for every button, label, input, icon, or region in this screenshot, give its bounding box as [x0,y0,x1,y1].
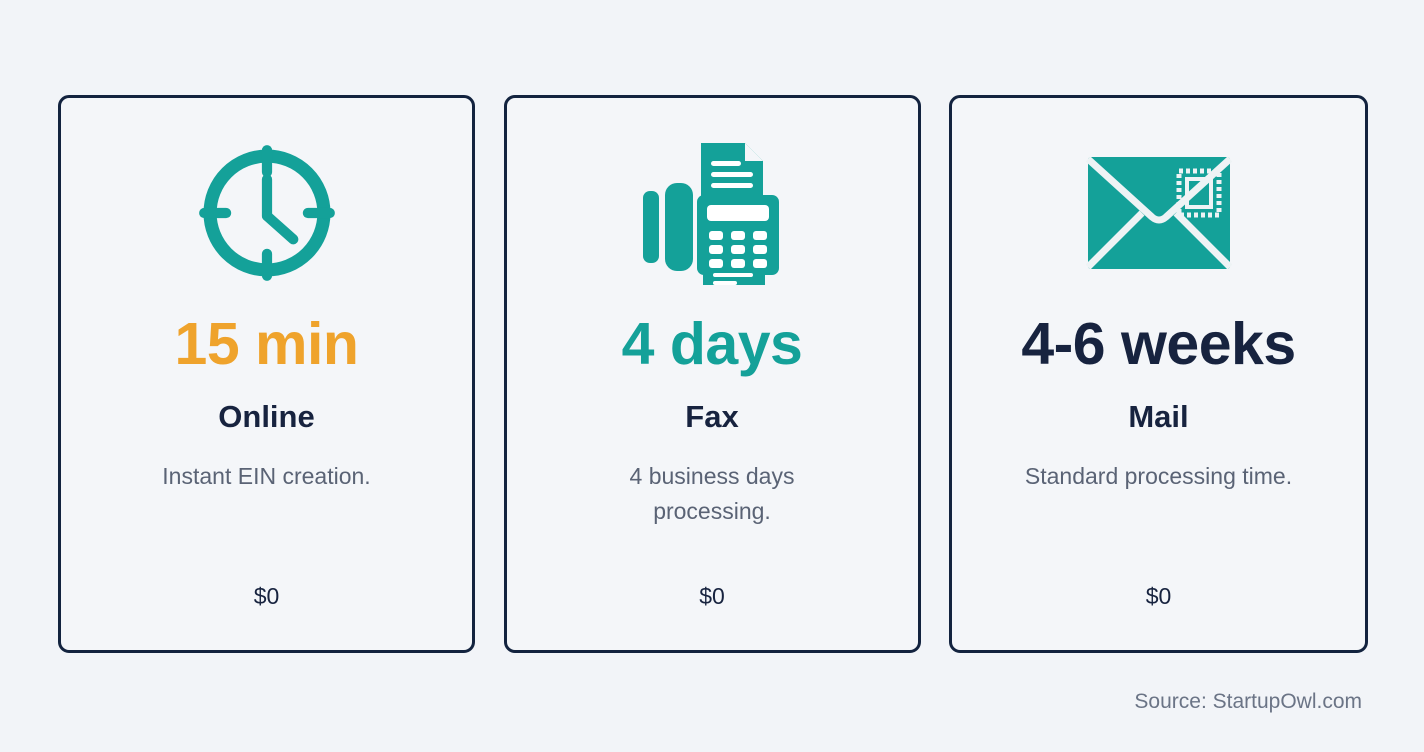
card-fax[interactable]: 4 days Fax 4 business days processing. $… [504,95,921,653]
source-attribution: Source: StartupOwl.com [1134,690,1362,714]
card-headline: 4 days [622,315,803,374]
comparison-cards-row: 15 min Online Instant EIN creation. $0 [58,95,1368,653]
card-method-label: Fax [685,400,738,434]
card-description: Standard processing time. [1025,459,1292,494]
card-description: Instant EIN creation. [162,459,370,494]
envelope-mail-icon [1086,138,1232,288]
card-headline: 4-6 weeks [1021,315,1295,374]
card-price: $0 [254,583,280,622]
card-price: $0 [1146,583,1172,622]
card-method-label: Mail [1128,400,1188,434]
fax-machine-icon [637,138,787,288]
card-method-label: Online [218,400,314,434]
card-headline: 15 min [175,315,359,374]
infographic-canvas: 15 min Online Instant EIN creation. $0 [0,0,1424,752]
clock-icon [194,138,340,288]
card-price: $0 [699,583,725,622]
card-description: 4 business days processing. [597,459,827,528]
card-mail[interactable]: 4-6 weeks Mail Standard processing time.… [949,95,1368,653]
card-online[interactable]: 15 min Online Instant EIN creation. $0 [58,95,475,653]
